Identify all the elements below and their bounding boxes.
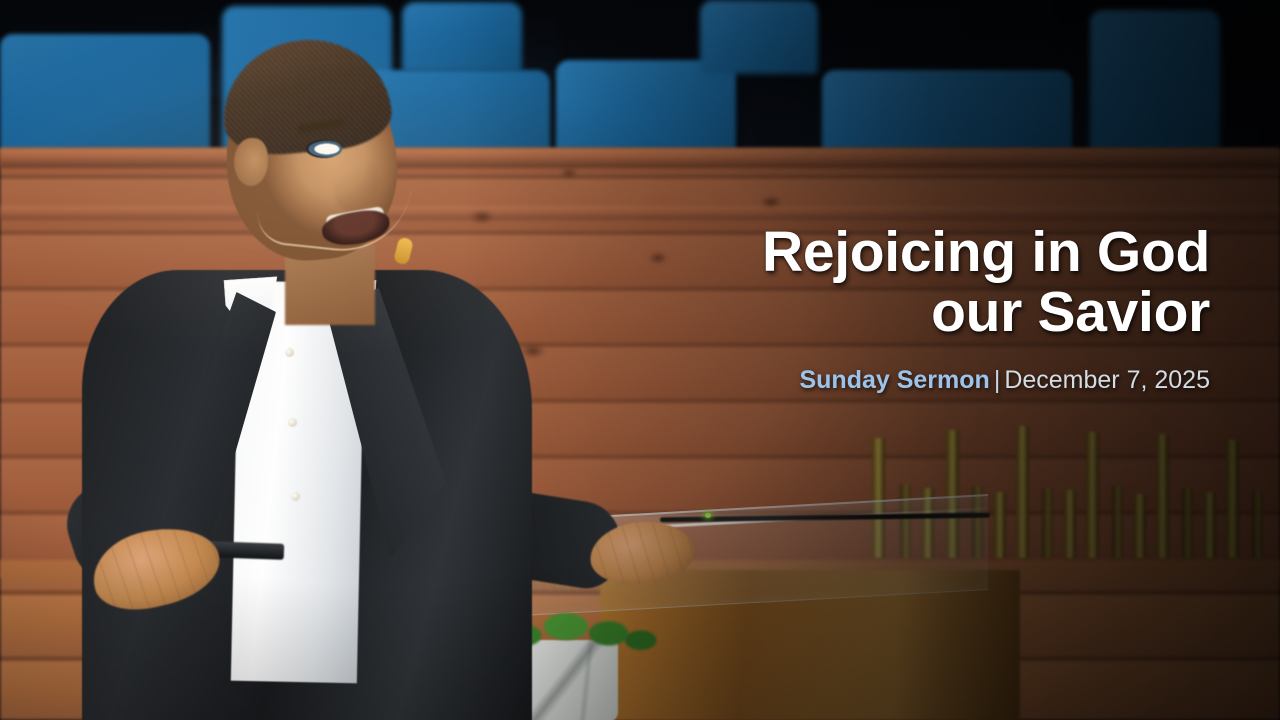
organ-pipe [1156,434,1169,558]
speaker-figure [30,30,590,720]
wood-knot [760,196,782,208]
subtitle-separator: | [994,366,1001,394]
auditorium-seat [822,70,1072,160]
organ-pipe [1134,494,1146,558]
eye [306,140,342,158]
title-block: Rejoicing in God our Savior Sunday Sermo… [570,222,1210,396]
organ-pipe [1112,486,1123,558]
organ-pipe [1204,492,1216,558]
organ-pipe [1182,488,1193,558]
microphone-capsule [393,237,414,266]
sermon-title: Rejoicing in God our Savior [570,222,1210,343]
organ-pipe [1226,440,1239,558]
shirt-button [288,418,297,427]
organ-pipe [1252,490,1263,558]
shirt-button [291,492,300,501]
sermon-subtitle: Sunday Sermon|December 7, 2025 [570,365,1210,396]
sermon-title-card: Rejoicing in God our Savior Sunday Sermo… [0,0,1280,720]
organ-pipe [1086,432,1099,558]
organ-pipe [1042,488,1053,558]
organ-pipe [994,492,1006,558]
subtitle-date: December 7, 2025 [1004,366,1210,394]
organ-pipe [1064,490,1076,558]
auditorium-seat [700,0,818,74]
auditorium-seat [1090,10,1220,160]
green-led-indicator [705,513,711,518]
organ-pipe [1016,426,1029,558]
subtitle-label: Sunday Sermon [799,366,989,394]
shirt-button [285,348,294,357]
